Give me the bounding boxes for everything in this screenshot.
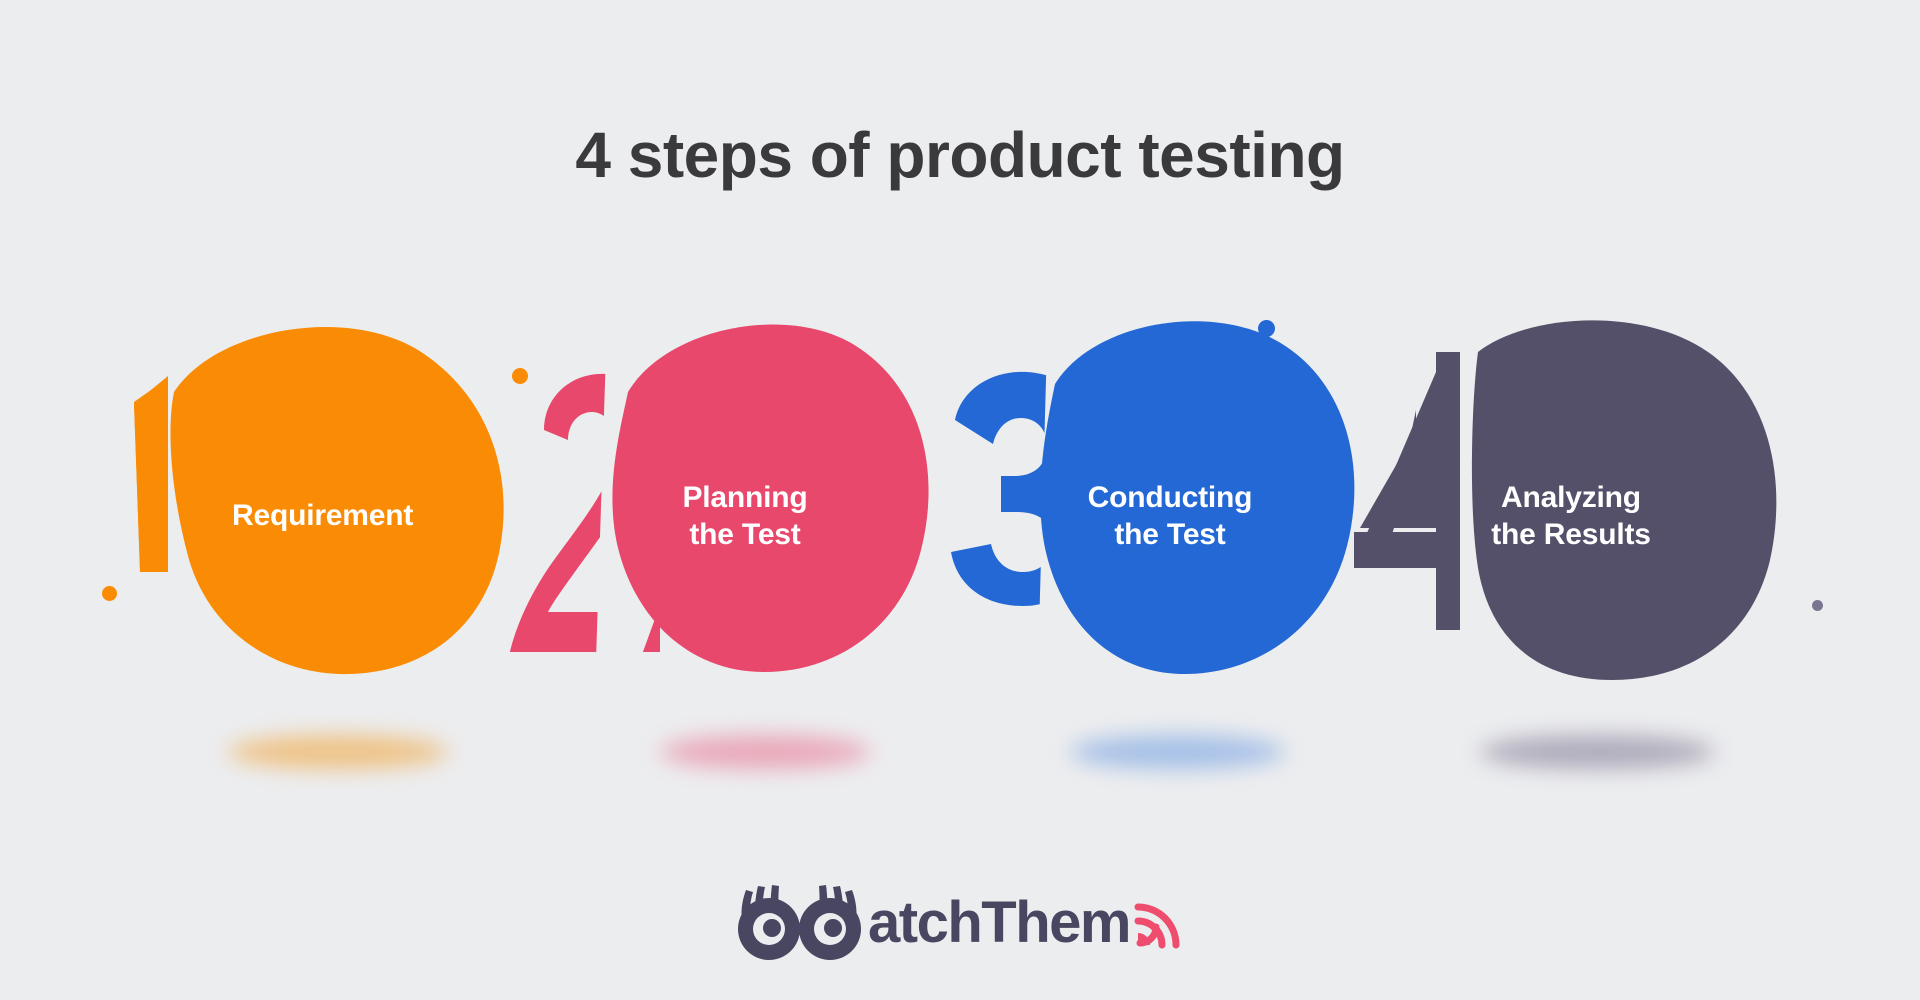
- left-eye-pupil: [763, 919, 781, 937]
- step-1-numeral-overlay: [134, 376, 168, 572]
- watching-eyes-icon: [734, 884, 866, 962]
- step-card-1[interactable]: Requirement: [96, 300, 536, 760]
- gray-dot-right-of-step-4: [1812, 600, 1823, 611]
- orange-dot-right-of-step-1: [512, 368, 528, 384]
- orange-dot-left-of-step-1: [102, 586, 117, 601]
- blue-dot-above-step-3: [1258, 320, 1275, 337]
- step-card-4[interactable]: Analyzing the Results: [1350, 300, 1790, 760]
- step-card-2[interactable]: Planning the Test: [510, 300, 950, 760]
- step-card-3[interactable]: Conducting the Test: [935, 300, 1375, 760]
- watchthem-logo[interactable]: atchThem: [0, 868, 1920, 978]
- signal-waves-icon: [1134, 899, 1186, 949]
- infographic-canvas: 4 steps of product testing Requirement: [0, 0, 1920, 1000]
- step-4-label: Analyzing the Results: [1436, 480, 1706, 553]
- right-eye-pupil: [824, 919, 842, 937]
- steps-row: Requirement Planning the Test: [0, 300, 1920, 760]
- step-3-label: Conducting the Test: [1035, 480, 1305, 553]
- logo-wordmark: atchThem: [868, 894, 1130, 952]
- page-title: 4 steps of product testing: [0, 118, 1920, 192]
- pink-dot-below-step-2: [564, 638, 576, 650]
- step-2-label: Planning the Test: [620, 480, 870, 553]
- step-1-label: Requirement: [232, 498, 512, 535]
